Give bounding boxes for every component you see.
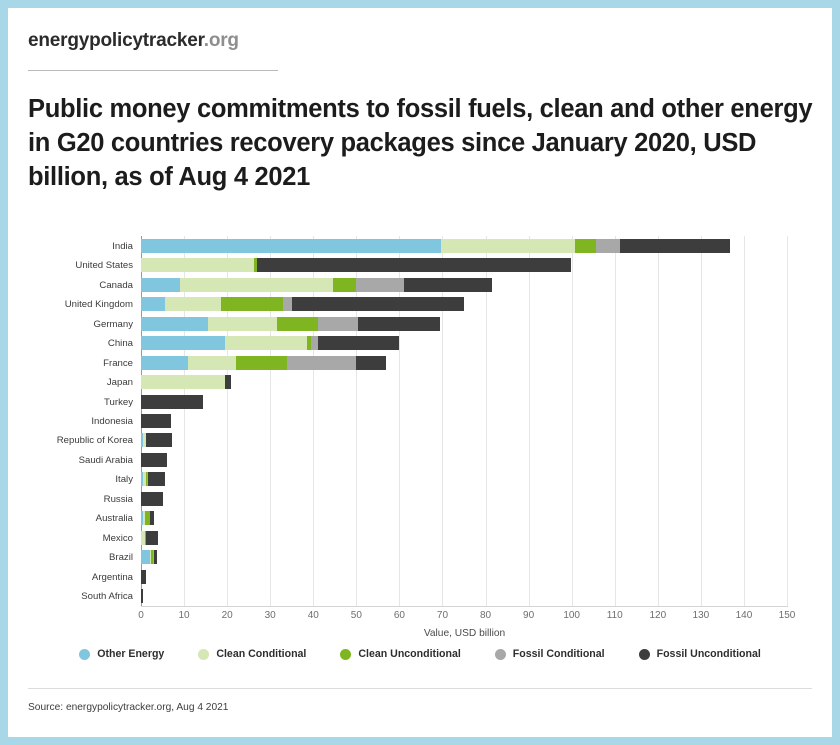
legend-swatch-icon [639, 649, 650, 660]
bar-segment[interactable] [141, 414, 171, 428]
bar-segment[interactable] [441, 239, 575, 253]
bar-segment[interactable] [277, 317, 318, 331]
legend-label: Fossil Conditional [513, 648, 605, 660]
y-axis-category-label: Turkey [104, 398, 133, 408]
bar-row[interactable]: Japan [141, 375, 787, 389]
bar-row[interactable]: Canada [141, 278, 787, 292]
legend-label: Clean Unconditional [358, 648, 460, 660]
x-axis-tick-label: 10 [179, 610, 190, 621]
legend-item[interactable]: Other Energy [79, 648, 164, 660]
x-axis-tick-label: 80 [480, 610, 491, 621]
y-axis-category-label: United Kingdom [65, 300, 133, 310]
x-axis-tick-label: 40 [308, 610, 319, 621]
x-axis-tick-label: 20 [222, 610, 233, 621]
y-axis-category-label: Australia [96, 514, 133, 524]
x-axis-tick-label: 130 [693, 610, 710, 621]
bar-row[interactable]: Australia [141, 511, 787, 525]
bar-segment[interactable] [356, 356, 386, 370]
bar-segment[interactable] [575, 239, 596, 253]
legend-item[interactable]: Clean Conditional [198, 648, 306, 660]
bar-segment[interactable] [225, 375, 231, 389]
page-title: Public money commitments to fossil fuels… [28, 93, 818, 195]
legend-swatch-icon [340, 649, 351, 660]
bar-row[interactable]: China [141, 336, 787, 350]
bar-segment[interactable] [358, 317, 440, 331]
bar-row[interactable]: Republic of Korea [141, 433, 787, 447]
bar-segment[interactable] [596, 239, 620, 253]
bar-segment[interactable] [620, 239, 729, 253]
bar-segment[interactable] [318, 317, 359, 331]
y-axis-category-label: Brazil [109, 553, 133, 563]
brand-name: energypolicytracker [28, 30, 204, 51]
bar-segment[interactable] [141, 239, 441, 253]
bar-segment[interactable] [318, 336, 400, 350]
bar-segment[interactable] [141, 550, 150, 564]
legend-item[interactable]: Clean Unconditional [340, 648, 460, 660]
bar-segment[interactable] [141, 336, 225, 350]
bar-segment[interactable] [292, 297, 464, 311]
y-axis-category-label: Germany [94, 320, 133, 330]
bar-segment[interactable] [225, 336, 307, 350]
bar-segment[interactable] [141, 453, 167, 467]
y-axis-category-label: South Africa [81, 592, 133, 602]
y-axis-category-label: Russia [104, 495, 133, 505]
bar-row[interactable]: Argentina [141, 570, 787, 584]
bar-segment[interactable] [141, 278, 180, 292]
bar-segment[interactable] [146, 531, 158, 545]
chart-card: energypolicytracker.org Public money com… [8, 8, 832, 737]
bar-segment[interactable] [287, 356, 356, 370]
bar-segment[interactable] [150, 511, 153, 525]
y-axis-category-label: Canada [99, 281, 133, 291]
bar-segment[interactable] [141, 317, 208, 331]
bar-row[interactable]: Germany [141, 317, 787, 331]
brand-tld: .org [204, 30, 239, 51]
bar-segment[interactable] [141, 258, 254, 272]
bar-segment[interactable] [236, 356, 288, 370]
bar-row[interactable]: United Kingdom [141, 297, 787, 311]
bar-segment[interactable] [148, 472, 165, 486]
bar-segment[interactable] [165, 297, 221, 311]
x-axis-tick-label: 90 [523, 610, 534, 621]
legend-swatch-icon [495, 649, 506, 660]
x-axis-tick-label: 100 [563, 610, 580, 621]
legend-swatch-icon [198, 649, 209, 660]
x-axis-line [141, 606, 788, 607]
x-axis-tick-label: 120 [649, 610, 666, 621]
y-axis-category-label: Indonesia [91, 417, 133, 427]
x-axis-tick-label: 50 [351, 610, 362, 621]
bar-segment[interactable] [333, 278, 357, 292]
y-axis-category-label: Saudi Arabia [79, 456, 133, 466]
brand-divider [28, 70, 278, 71]
y-axis-category-label: Republic of Korea [57, 436, 133, 446]
x-axis-tick-label: 60 [394, 610, 405, 621]
x-axis-label: Value, USD billion [141, 628, 788, 639]
y-axis-category-label: Japan [107, 378, 133, 388]
bar-row[interactable]: South Africa [141, 589, 787, 603]
legend-label: Other Energy [97, 648, 164, 660]
bar-row[interactable]: Russia [141, 492, 787, 506]
bar-segment[interactable] [257, 258, 571, 272]
bar-row[interactable]: United States [141, 258, 787, 272]
bar-row[interactable]: Italy [141, 472, 787, 486]
bar-segment[interactable] [208, 317, 277, 331]
bar-segment[interactable] [188, 356, 235, 370]
y-axis-category-label: Italy [115, 475, 133, 485]
x-axis-tick-label: 150 [779, 610, 796, 621]
x-axis-tick-label: 140 [736, 610, 753, 621]
y-axis-category-label: United States [75, 261, 133, 271]
bar-row[interactable]: France [141, 356, 787, 370]
bar-row[interactable]: Saudi Arabia [141, 453, 787, 467]
x-axis-tick-label: 0 [138, 610, 144, 621]
x-axis-tick-label: 110 [607, 610, 623, 621]
bar-segment[interactable] [283, 297, 292, 311]
source-note: Source: energypolicytracker.org, Aug 4 2… [28, 702, 228, 713]
y-axis-category-label: Mexico [103, 534, 133, 544]
y-axis-category-label: Argentina [92, 573, 133, 583]
bar-segment[interactable] [221, 297, 283, 311]
bar-segment[interactable] [141, 297, 165, 311]
bar-segment[interactable] [180, 278, 333, 292]
bar-row[interactable]: Indonesia [141, 414, 787, 428]
bar-segment[interactable] [404, 278, 492, 292]
bar-segment[interactable] [141, 570, 146, 584]
bar-segment[interactable] [154, 550, 157, 564]
x-axis-tick-label: 30 [265, 610, 276, 621]
bar-segment[interactable] [141, 356, 188, 370]
bar-segment[interactable] [356, 278, 403, 292]
site-brand: energypolicytracker.org [28, 30, 239, 52]
y-axis-category-label: China [108, 339, 133, 349]
bar-segment[interactable] [141, 492, 163, 506]
legend-label: Clean Conditional [216, 648, 306, 660]
bar-segment[interactable] [141, 375, 225, 389]
bar-segment[interactable] [146, 433, 172, 447]
legend-label: Fossil Unconditional [657, 648, 761, 660]
footer-divider [28, 688, 812, 689]
gridline [787, 236, 788, 606]
y-axis-category-label: France [103, 359, 133, 369]
bar-segment[interactable] [141, 589, 143, 603]
bar-row[interactable]: Turkey [141, 395, 787, 409]
plot-area: IndiaUnited StatesCanadaUnited KingdomGe… [141, 236, 787, 606]
bar-row[interactable]: Mexico [141, 531, 787, 545]
bar-row[interactable]: India [141, 239, 787, 253]
bar-row[interactable]: Brazil [141, 550, 787, 564]
y-axis-category-label: India [112, 242, 133, 252]
bar-chart: IndiaUnited StatesCanadaUnited KingdomGe… [8, 228, 832, 648]
legend-item[interactable]: Fossil Unconditional [639, 648, 761, 660]
x-axis-tick-label: 70 [437, 610, 448, 621]
bar-segment[interactable] [141, 395, 203, 409]
legend-item[interactable]: Fossil Conditional [495, 648, 605, 660]
chart-legend: Other EnergyClean ConditionalClean Uncon… [8, 648, 832, 660]
legend-swatch-icon [79, 649, 90, 660]
